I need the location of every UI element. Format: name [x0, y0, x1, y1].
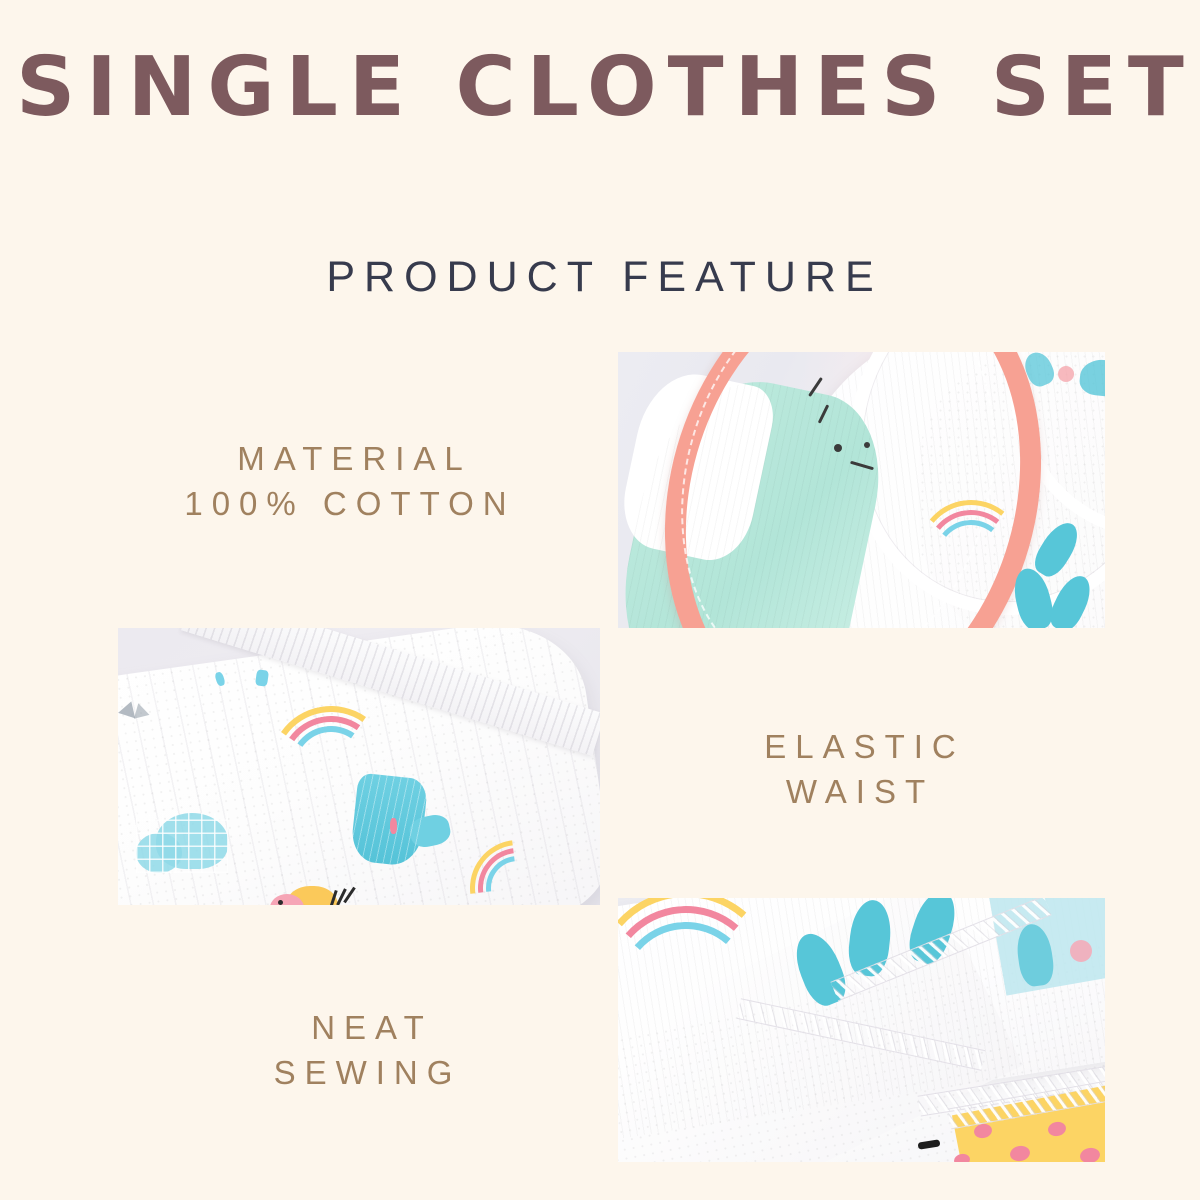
- feature-label-elastic-waist: ELASTIC WAIST: [700, 725, 1020, 814]
- cat-eye: [834, 444, 842, 452]
- page-title: SINGLE CLOTHES SET: [0, 42, 1200, 135]
- pink-accent-print: [390, 818, 397, 834]
- neckline-binding-photo: [618, 352, 1105, 628]
- neckline-scene: [618, 352, 1105, 628]
- elastic-waistband-photo: [118, 628, 600, 905]
- infographic-canvas: SINGLE CLOTHES SET PRODUCT FEATURE MATER…: [0, 0, 1200, 1200]
- cat-eye-2: [864, 442, 870, 448]
- pink-dot-print: [1070, 940, 1092, 962]
- teal-print-gather-lines: [350, 773, 429, 868]
- page-subtitle: PRODUCT FEATURE: [0, 253, 1200, 302]
- feature-label-neat-sewing: NEAT SEWING: [215, 1006, 520, 1095]
- hem-scene: [618, 898, 1105, 1162]
- feature-label-material: MATERIAL 100% COTTON: [140, 437, 560, 526]
- cloud-grid-texture: [136, 813, 228, 873]
- pink-dot-print: [1058, 366, 1074, 382]
- waistband-scene: [118, 628, 600, 905]
- giraffe-eye: [278, 900, 283, 905]
- hem-stitching-photo: [618, 898, 1105, 1162]
